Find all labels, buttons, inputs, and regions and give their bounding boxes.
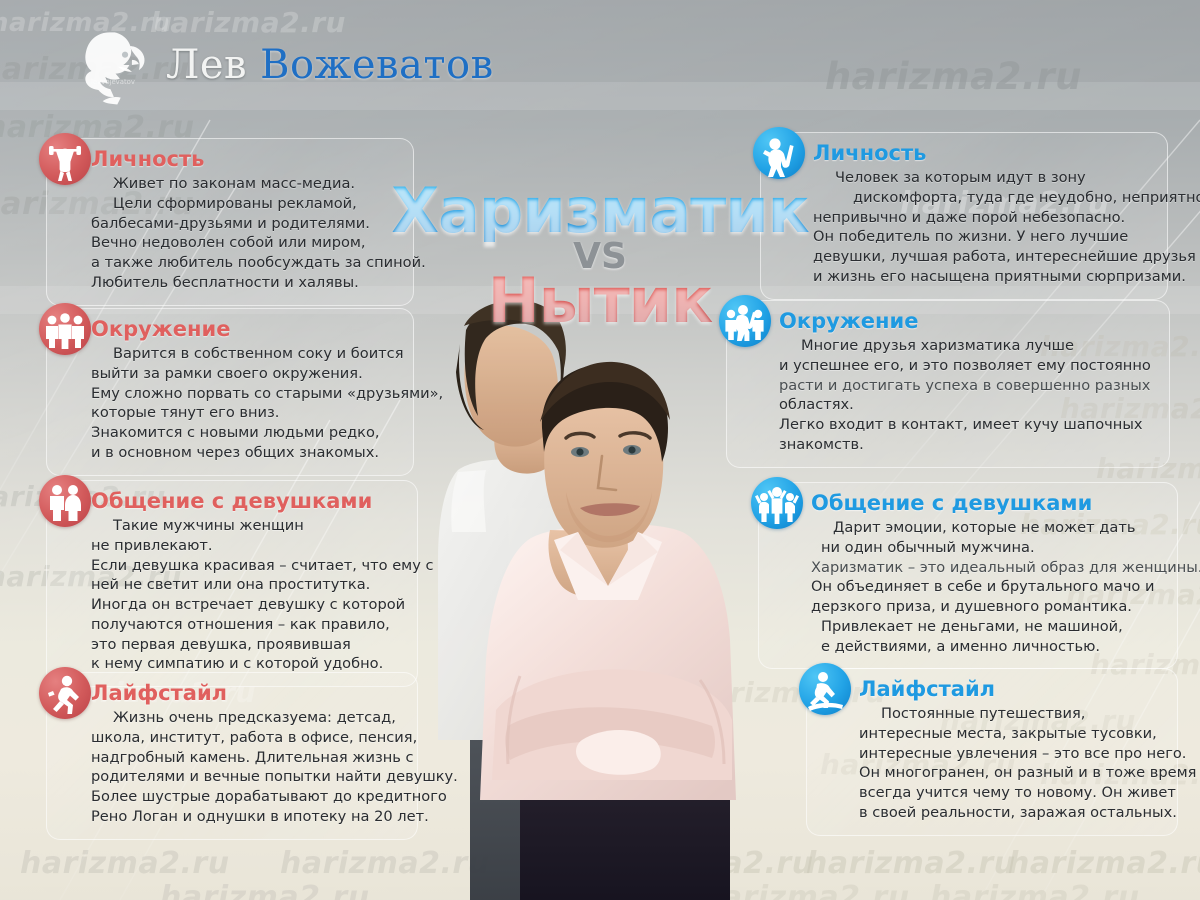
card-line: непривычно и даже порой небезопасно. (813, 208, 1153, 228)
card-line: Многие друзья харизматика лучше (779, 336, 1155, 356)
brand-header: levvojevatov Лев Вожеватов (70, 22, 494, 108)
logo-caption: levvojevatov (91, 78, 135, 86)
card-left-lifestyle[interactable]: Лайфстайл Жизнь очень предсказуема: детс… (46, 672, 418, 840)
card-line: Привлекает не деньгами, не машиной, (811, 617, 1163, 637)
man-and-woman-icon (39, 475, 91, 527)
weightlifter-icon (39, 133, 91, 185)
card-line: Человек за которым идут в зону (813, 168, 1153, 188)
card-line: и жизнь его насыщена приятными сюрпризам… (813, 267, 1153, 287)
card-line: Он победитель по жизни. У него лучшие (813, 227, 1153, 247)
card-body: Постоянные путешествия, интересные места… (859, 704, 1163, 823)
card-line: Рено Логан и однушки в ипотеку на 20 лет… (91, 807, 403, 827)
card-line: родителями и вечные попытки найти девушк… (91, 767, 403, 787)
card-heading: Личность (91, 147, 204, 171)
card-line: не привлекают. (91, 536, 403, 556)
card-line: Если девушка красивая – считает, что ему… (91, 556, 403, 576)
card-left-personality[interactable]: Личность Живет по законам масс-медиа. Це… (46, 138, 414, 306)
card-heading: Личность (813, 141, 926, 165)
card-line: Он объединяет в себе и брутального мачо … (811, 577, 1163, 597)
card-line: Иногда он встречает девушку с которой (91, 595, 403, 615)
card-left-environment[interactable]: Окружение Варится в собственном соку и б… (46, 308, 414, 476)
card-line: Такие мужчины женщин (91, 516, 403, 536)
card-line: надгробный камень. Длительная жизнь с (91, 748, 403, 768)
card-line: и успешнее его, и это позволяет ему пост… (779, 356, 1155, 376)
brand-name: Лев Вожеватов (166, 42, 494, 88)
card-right-personality[interactable]: Личность Человек за которым идут в зону … (760, 132, 1168, 300)
card-line: Харизматик – это идеальный образ для жен… (811, 558, 1163, 578)
cheering-group-icon (751, 477, 803, 529)
group-with-leader-icon (719, 295, 771, 347)
card-heading: Общение с девушками (811, 491, 1092, 515)
card-line: Вечно недоволен собой или миром, (91, 233, 399, 253)
card-line: интересные увлечения – это все про него. (859, 744, 1163, 764)
card-heading: Общение с девушками (91, 489, 372, 513)
card-heading: Лайфстайл (859, 677, 995, 701)
card-line: дискомфорта, туда где неудобно, неприятн… (813, 188, 1153, 208)
victory-pose-person-icon (753, 127, 805, 179)
card-line: ней не светит или она проститутка. (91, 575, 403, 595)
bg-watermark: harizma2.ru (20, 846, 230, 881)
card-line: Он многогранен, он разный и в тоже время (859, 763, 1163, 783)
bg-watermark: harizma2.ru (806, 846, 1016, 881)
card-line: Дарит эмоции, которые не может дать (811, 518, 1163, 538)
card-body: Многие друзья харизматика лучше и успешн… (779, 336, 1155, 455)
card-line: Легко входит в контакт, имеет кучу шапоч… (779, 415, 1155, 435)
card-line: это первая девушка, проявившая (91, 635, 403, 655)
site-url-watermark: harizma2.ru (825, 55, 1082, 98)
card-line: Любитель бесплатности и халявы. (91, 273, 399, 293)
card-line: Знакомится с новыми людьми редко, (91, 423, 399, 443)
card-line: Варится в собственном соку и боится (91, 344, 399, 364)
card-line: девушки, лучшая работа, интереснейшие др… (813, 247, 1153, 267)
card-left-girls[interactable]: Общение с девушками Такие мужчины женщин… (46, 480, 418, 687)
card-right-lifestyle[interactable]: Лайфстайл Постоянные путешествия, интере… (806, 668, 1178, 836)
card-line: расти и достигать успеха в совершенно ра… (779, 376, 1155, 396)
card-line: знакомств. (779, 435, 1155, 455)
group-of-people-icon (39, 303, 91, 355)
card-line: всегда учится чему то новому. Он живет (859, 783, 1163, 803)
card-heading: Окружение (91, 317, 230, 341)
card-line: Ему сложно порвать со старыми «друзьями»… (91, 384, 399, 404)
brand-last-name: Вожеватов (260, 42, 494, 88)
card-body: Варится в собственном соку и боится выйт… (91, 344, 399, 463)
card-line: и в основном через общих знакомых. (91, 443, 399, 463)
card-line: которые тянут его вниз. (91, 403, 399, 423)
card-line: дерзкого приза, и душевного романтика. (811, 597, 1163, 617)
card-line: получаются отношения – как правило, (91, 615, 403, 635)
card-line: е действиями, а именно личностью. (811, 637, 1163, 657)
card-line: балбесами-друзьями и родителями. (91, 214, 399, 234)
card-line: Более шустрые дорабатывают до кредитного (91, 787, 403, 807)
card-line: в своей реальности, заражая остальных. (859, 803, 1163, 823)
brand-first-name: Лев (166, 42, 247, 88)
card-right-girls[interactable]: Общение с девушками Дарит эмоции, которы… (758, 482, 1178, 669)
card-line: ни один обычный мужчина. (811, 538, 1163, 558)
card-line: Постоянные путешествия, (859, 704, 1163, 724)
running-person-icon (39, 667, 91, 719)
card-line: Цели сформированы рекламой, (91, 194, 399, 214)
card-heading: Лайфстайл (91, 681, 227, 705)
card-line: выйти за рамки своего окружения. (91, 364, 399, 384)
bg-watermark: harizma2.ru (160, 880, 370, 900)
card-body: Жизнь очень предсказуема: детсад, школа,… (91, 708, 403, 827)
card-right-environment[interactable]: Окружение Многие друзья харизматика лучш… (726, 300, 1170, 468)
card-heading: Окружение (779, 309, 918, 333)
lion-head-logo-icon: levvojevatov (70, 22, 156, 108)
card-line: а также любитель пообсуждать за спиной. (91, 253, 399, 273)
card-body: Человек за которым идут в зону дискомфор… (813, 168, 1153, 287)
bg-watermark: harizma2.ru (930, 880, 1140, 900)
card-line: Живет по законам масс-медиа. (91, 174, 399, 194)
card-line: областях. (779, 395, 1155, 415)
snowboarder-icon (799, 663, 851, 715)
card-line: школа, институт, работа в офисе, пенсия, (91, 728, 403, 748)
card-line: Жизнь очень предсказуема: детсад, (91, 708, 403, 728)
card-line: интересные места, закрытые тусовки, (859, 724, 1163, 744)
card-body: Дарит эмоции, которые не может дать ни о… (811, 518, 1163, 656)
bg-watermark: harizma2.ru (1008, 846, 1200, 881)
card-body: Такие мужчины женщин не привлекают. Если… (91, 516, 403, 674)
card-body: Живет по законам масс-медиа. Цели сформи… (91, 174, 399, 293)
